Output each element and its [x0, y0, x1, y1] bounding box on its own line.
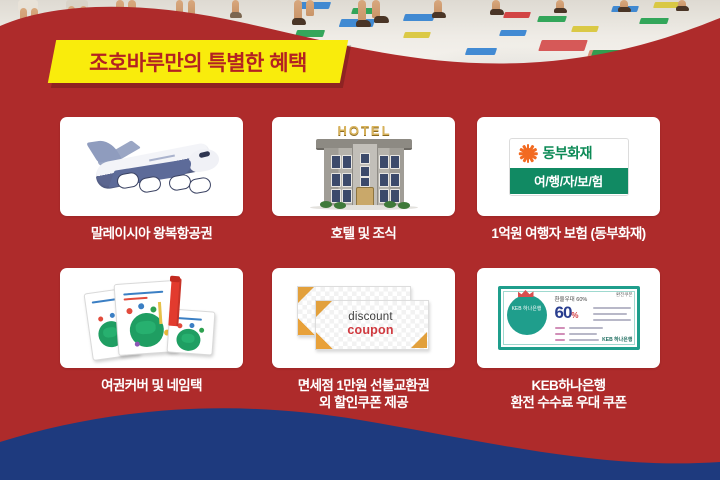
benefit-item-airfare[interactable]: 말레이시아 왕복항공권: [60, 117, 243, 242]
coupon-line-1: discount: [348, 311, 392, 323]
coupon-percent: 60%: [555, 303, 578, 323]
hotel-sign-text: HOTEL: [330, 123, 400, 138]
benefit-card[interactable]: discount coupon: [272, 268, 455, 368]
discount-coupon-icon: discount coupon: [293, 282, 435, 354]
benefits-grid: 말레이시아 왕복항공권 HOTEL: [0, 0, 720, 480]
coupon-tag: 환전쿠폰: [616, 292, 633, 298]
promo-page: 조호바루만의 특별한 혜택 말레이시아: [0, 0, 720, 480]
keb-hana-bank-coupon-icon: KEB 하나은행 환율우대 60% 60% 환전쿠폰 KEB 하나은행: [498, 286, 640, 350]
dongbu-insurance-logo: 동부화재 여/행/자/보/험: [509, 138, 629, 196]
coupon-line-2: coupon: [347, 323, 393, 337]
benefit-card[interactable]: [60, 117, 243, 216]
benefit-caption: 말레이시아 왕복항공권: [60, 225, 243, 242]
bank-logo-text: KEB 하나은행: [602, 336, 632, 343]
benefit-caption: KEB하나은행 환전 수수료 우대 쿠폰: [477, 377, 660, 411]
benefit-caption: 호텔 및 조식: [272, 225, 455, 242]
coupon-ball-text: KEB 하나은행: [511, 306, 543, 312]
insurance-brand-name: 동부화재: [543, 143, 593, 163]
benefit-item-discount-coupon[interactable]: discount coupon 면세점 1만원 선불교환권 외 할인쿠폰 제공: [272, 268, 455, 411]
benefit-card[interactable]: 동부화재 여/행/자/보/험: [477, 117, 660, 216]
airplane-icon: [77, 127, 227, 207]
benefit-item-insurance[interactable]: 동부화재 여/행/자/보/험 1억원 여행자 보험 (동부화재): [477, 117, 660, 242]
benefit-card[interactable]: KEB 하나은행 환율우대 60% 60% 환전쿠폰 KEB 하나은행: [477, 268, 660, 368]
benefit-item-passport-cover[interactable]: 여권커버 및 네임택: [60, 268, 243, 394]
sun-icon: [519, 144, 538, 163]
insurance-subtitle: 여/행/자/보/험: [510, 168, 628, 194]
benefit-caption: 여권커버 및 네임택: [60, 377, 243, 394]
benefit-caption: 면세점 1만원 선불교환권 외 할인쿠폰 제공: [272, 377, 455, 411]
benefit-card[interactable]: [60, 268, 243, 368]
benefit-item-hotel[interactable]: HOTEL: [272, 117, 455, 242]
benefit-caption: 1억원 여행자 보험 (동부화재): [477, 225, 660, 242]
coupon-heading: 환율우대 60%: [555, 295, 588, 303]
benefit-card[interactable]: HOTEL: [272, 117, 455, 216]
pen-tip-icon: [169, 276, 179, 283]
benefit-item-bank-coupon[interactable]: KEB 하나은행 환율우대 60% 60% 환전쿠폰 KEB 하나은행: [477, 268, 660, 411]
globe-illustration: [507, 295, 547, 335]
passport-cover-nametag-icon: [82, 276, 222, 360]
hotel-building-icon: HOTEL: [304, 121, 424, 213]
